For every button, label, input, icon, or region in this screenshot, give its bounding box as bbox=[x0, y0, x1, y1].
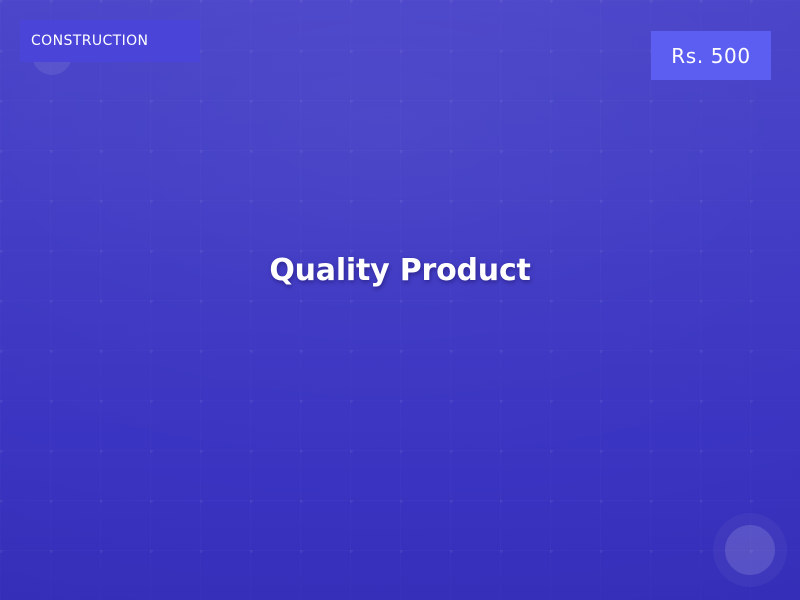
page-title: Quality Product bbox=[0, 252, 800, 290]
category-badge-label: CONSTRUCTION bbox=[31, 34, 148, 48]
circle-decoration-bottom-right-ring bbox=[713, 513, 787, 587]
product-card: CONSTRUCTION Rs. 500 Quality Product bbox=[0, 0, 800, 600]
background-vignette bbox=[0, 0, 800, 600]
price-badge[interactable]: Rs. 500 bbox=[651, 31, 771, 80]
category-badge[interactable]: CONSTRUCTION bbox=[20, 20, 200, 62]
dot-grid-pattern bbox=[0, 0, 800, 600]
price-badge-label: Rs. 500 bbox=[671, 46, 750, 66]
circle-decoration-bottom-right bbox=[725, 525, 775, 575]
